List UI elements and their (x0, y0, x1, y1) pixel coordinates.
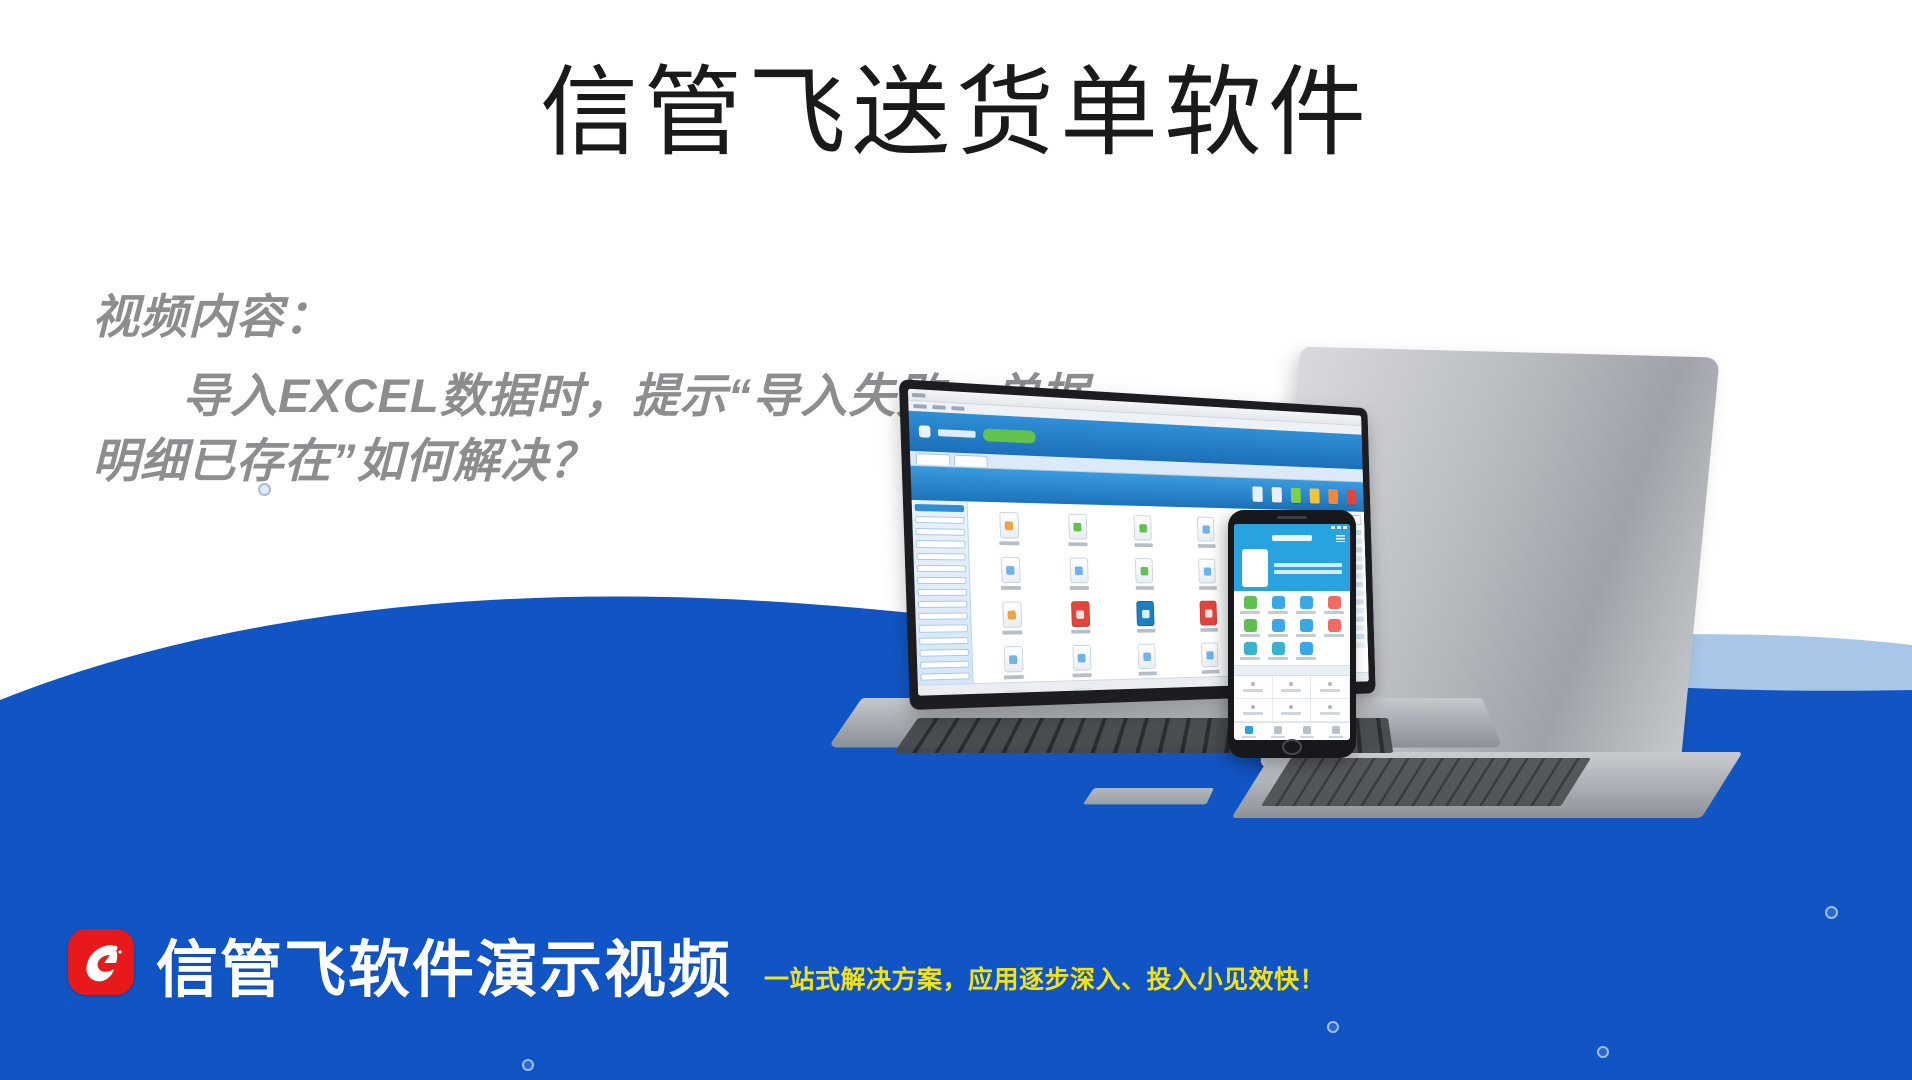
mobile-stats-grid (1234, 676, 1350, 722)
decor-dot (1825, 906, 1838, 919)
app-tab (916, 453, 951, 465)
mobile-app-header (1234, 531, 1350, 546)
toolbar-icon (1252, 486, 1263, 502)
module-icon (1112, 515, 1174, 553)
mobile-module-icon (1265, 619, 1291, 637)
sidebar-item (917, 565, 966, 572)
mobile-stat-cell (1234, 676, 1273, 699)
battery-icon (1343, 526, 1347, 529)
presentation-slide: 信管飞送货单软件 视频内容： 导入EXCEL数据时，提示“导入失败，单据明细已存… (0, 0, 1912, 1080)
module-icon (1048, 601, 1113, 640)
menu-item-chip (913, 404, 927, 409)
sidebar-item (919, 625, 968, 633)
titlebar-chip (912, 392, 926, 397)
laptop-trackpad (1083, 788, 1214, 804)
mobile-tab-home (1234, 723, 1263, 740)
wifi-icon (1337, 526, 1341, 529)
mobile-stat-cell (1273, 676, 1312, 699)
signal-icon (1331, 526, 1335, 529)
sidebar-item (915, 528, 965, 536)
decor-dot (1597, 1046, 1609, 1058)
toolbar-icon (1272, 487, 1282, 502)
device-showcase-image (880, 380, 1912, 940)
phone-home-button (1282, 739, 1302, 755)
mobile-section-header (1234, 665, 1350, 676)
footer-branding: 信管飞软件演示视频 一站式解决方案，应用逐步深入、投入小见效快！ (68, 929, 1325, 1002)
sidebar-item (918, 613, 967, 620)
decor-dot (1327, 1021, 1339, 1033)
toolbar-icon (1328, 489, 1338, 504)
video-content-label: 视频内容： (92, 285, 1122, 350)
sidebar-item (917, 577, 966, 584)
decor-dot (522, 1059, 534, 1071)
mobile-tabbar (1234, 722, 1350, 740)
toolbar-icon (1310, 488, 1320, 503)
xinguanfei-bird-logo-icon (68, 929, 134, 995)
menu-item-chip (951, 406, 964, 411)
mobile-module-icon (1237, 619, 1263, 637)
mobile-module-icon (1293, 642, 1319, 660)
app-brand-label (938, 429, 976, 438)
banner-text (1274, 563, 1342, 574)
hamburger-menu-icon (1336, 535, 1345, 542)
mobile-module-icon (1265, 596, 1291, 614)
phone-statusbar (1234, 524, 1350, 531)
menu-item-chip (932, 405, 945, 410)
mobile-app-banner (1234, 546, 1350, 591)
sidebar-item (916, 540, 966, 548)
module-icon (978, 601, 1045, 640)
phone-screen (1234, 524, 1350, 740)
mobile-tab-reports (1292, 723, 1321, 740)
sidebar-item (916, 553, 966, 561)
mobile-tab-orders (1263, 723, 1292, 740)
module-icon (1176, 516, 1236, 554)
mobile-stat-cell (1273, 699, 1312, 722)
smartphone (1228, 510, 1356, 758)
sidebar-item (920, 649, 969, 657)
mobile-module-icon (1265, 642, 1291, 660)
module-icon (1116, 643, 1178, 682)
module-icon (1115, 601, 1177, 639)
sidebar-item (920, 672, 969, 680)
app-sidebar (912, 500, 974, 685)
sidebar-item (917, 589, 966, 596)
closed-laptop-keyboard (1261, 758, 1591, 806)
mobile-stat-cell (1311, 676, 1350, 699)
mobile-module-icon (1321, 596, 1347, 614)
decor-dot (258, 483, 271, 496)
footer-tagline: 一站式解决方案，应用逐步深入、投入小见效快！ (764, 968, 1325, 1002)
sidebar-item (918, 601, 967, 608)
sidebar-item (915, 516, 965, 524)
mobile-module-icon (1321, 619, 1347, 637)
slide-title: 信管飞送货单软件 (0, 58, 1912, 171)
app-tab (954, 454, 988, 466)
mobile-stat-cell (1311, 699, 1350, 722)
mobile-tab-profile (1321, 723, 1350, 740)
phone-earpiece (1277, 516, 1307, 519)
banner-device-image (1242, 549, 1268, 587)
app-logo-icon (919, 425, 931, 438)
toolbar-icon (1291, 487, 1301, 502)
sidebar-item (915, 504, 965, 512)
module-icon (1047, 557, 1112, 595)
module-icon (980, 646, 1047, 686)
module-icon (1049, 644, 1113, 683)
toolbar-icon (1347, 489, 1357, 504)
app-status-pill (983, 428, 1036, 443)
mobile-module-icon (1237, 596, 1263, 614)
sidebar-item (920, 661, 969, 669)
sidebar-item (919, 637, 968, 645)
module-icon (1113, 558, 1175, 596)
mobile-module-icon (1237, 642, 1263, 660)
footer-brand-name: 信管飞软件演示视频 (156, 940, 732, 1002)
mobile-module-grid (1234, 591, 1350, 665)
module-icon (977, 557, 1044, 596)
mobile-stat-cell (1234, 699, 1273, 722)
module-icon (975, 511, 1042, 551)
mobile-module-icon (1293, 596, 1319, 614)
mobile-app-title (1272, 535, 1312, 541)
mobile-module-icon (1293, 619, 1319, 637)
module-icon (1045, 513, 1110, 552)
